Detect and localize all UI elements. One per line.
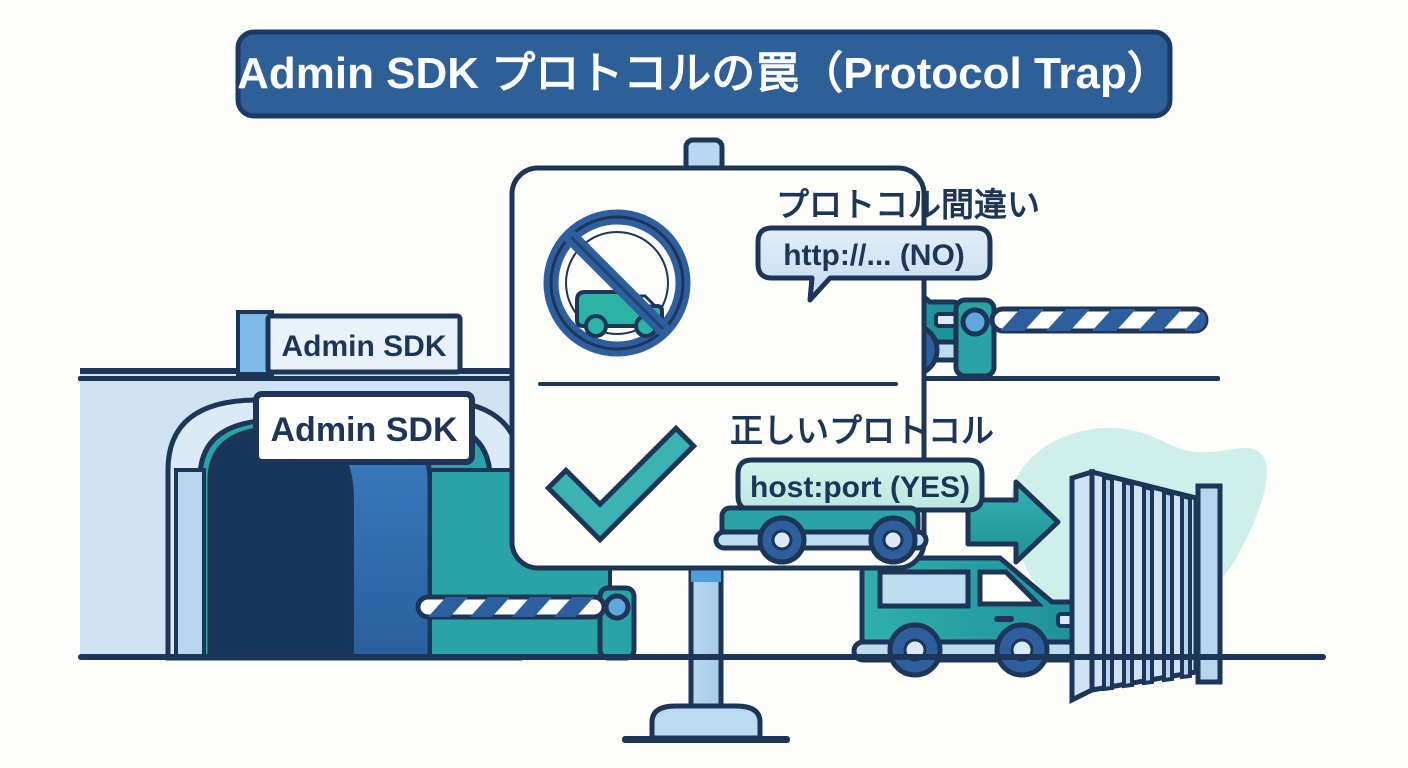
post-base [652,706,760,738]
barrier-arm-lower [418,597,604,617]
heading-wrong-protocol: プロトコル間違い [776,186,1040,223]
illustration-canvas: プロトコル間違い http://... (NO) 正しいプロトコル host:p… [0,0,1408,768]
tunnel-pillar [176,470,204,658]
heading-correct-protocol: 正しいプロトコル [730,412,994,449]
bubble-wrong-text: http://... (NO) [783,239,965,272]
title-banner: Admin SDK プロトコルの罠（Protocol Trap） [237,32,1171,116]
admin-sdk-sign-main: Admin SDK [256,394,472,462]
open-sliding-gate [1072,472,1220,700]
admin-sdk-sign-main-label: Admin SDK [271,411,458,449]
ground-baseline [78,654,1326,660]
bubble-correct-text: host:port (YES) [750,471,970,504]
title-banner-text: Admin SDK プロトコルの罠（Protocol Trap） [237,49,1171,98]
admin-sdk-sign-top: Admin SDK [268,316,460,372]
barrier-arm-upper [992,309,1214,331]
billboard-row-divider [538,382,898,386]
tunnel-arch-core [212,434,352,658]
admin-sdk-sign-top-label: Admin SDK [282,330,447,363]
